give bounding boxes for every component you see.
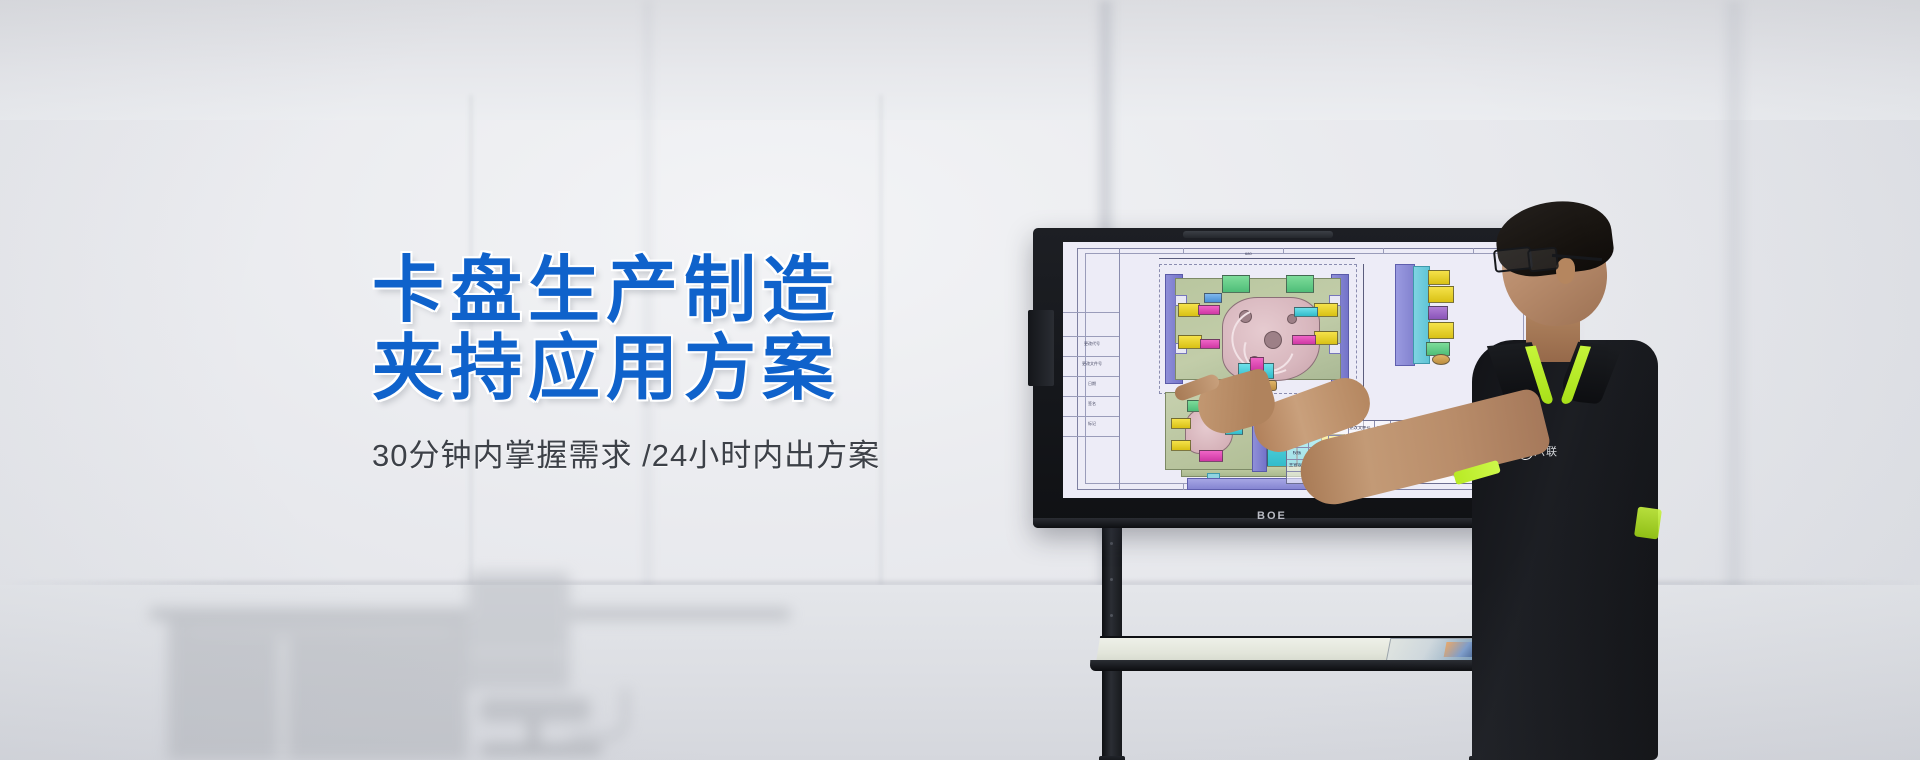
headline-line-2: 夹持应用方案 xyxy=(372,330,992,408)
display-brand-logo: BOE xyxy=(1257,510,1287,522)
display-camera-bar xyxy=(1183,231,1333,238)
presenter-sleeve-trim-right xyxy=(1634,506,1662,539)
background-furniture xyxy=(150,560,790,760)
revision-label: 签名 xyxy=(1068,399,1116,408)
revision-label: 日期 xyxy=(1068,379,1116,388)
desk-leg xyxy=(278,638,288,760)
office-chair-back xyxy=(468,572,570,690)
dimension-text: 680 xyxy=(1245,251,1252,256)
fixture-base-plate xyxy=(1175,278,1341,380)
side-rail xyxy=(1395,264,1415,366)
tb-cell: 校核 xyxy=(1288,451,1306,455)
revision-label: 标记 xyxy=(1068,419,1116,428)
office-chair-arm xyxy=(570,688,629,741)
presenter: 六联 xyxy=(1430,208,1730,760)
background-ceiling xyxy=(0,0,1920,120)
hero-copy: 卡盘生产制造 夹持应用方案 30分钟内掌握需求 /24小时内出方案 xyxy=(372,252,992,475)
glasses-lens-right xyxy=(1527,246,1559,272)
revision-label: 更改代号 xyxy=(1068,339,1116,348)
revision-label: 更改文件号 xyxy=(1068,359,1116,368)
hero-banner: 卡盘生产制造 夹持应用方案 30分钟内掌握需求 /24小时内出方案 xyxy=(0,0,1920,760)
dimension-line-horizontal xyxy=(1159,258,1355,259)
office-chair-base xyxy=(480,744,602,755)
desk-body xyxy=(168,620,468,760)
headline-line-1: 卡盘生产制造 xyxy=(372,252,992,330)
stand-foot-left xyxy=(1099,756,1125,760)
dimension-line-vertical xyxy=(1363,264,1364,392)
hero-subtitle: 30分钟内掌握需求 /24小时内出方案 xyxy=(372,430,992,475)
sheet-revision-column: 更改代号 更改文件号 日期 签名 标记 xyxy=(1063,248,1120,490)
desk-drawer-line xyxy=(190,630,450,633)
glasses-icon xyxy=(1494,248,1578,268)
display-mount-bracket xyxy=(1028,310,1054,386)
